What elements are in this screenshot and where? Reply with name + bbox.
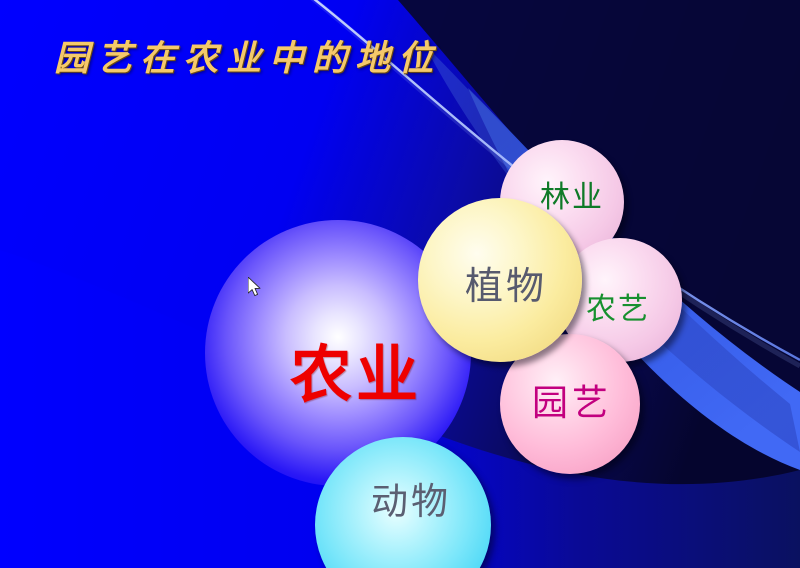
bubble-label-plant: 植物 [465,267,547,305]
presentation-slide: 园艺在农业中的地位 农业 动物 林业 农艺 园艺 植物 [0,0,800,568]
bubble-label-animal: 动物 [371,483,451,520]
bubble-label-agriculture: 农业 [290,344,422,406]
bubble-label-horticulture: 园艺 [532,386,612,422]
bubble-label-agronomy: 农艺 [586,295,650,325]
page-title: 园艺在农业中的地位 [54,30,441,81]
bubble-plant[interactable]: 植物 [418,198,582,362]
bubble-label-forestry: 林业 [540,183,604,213]
